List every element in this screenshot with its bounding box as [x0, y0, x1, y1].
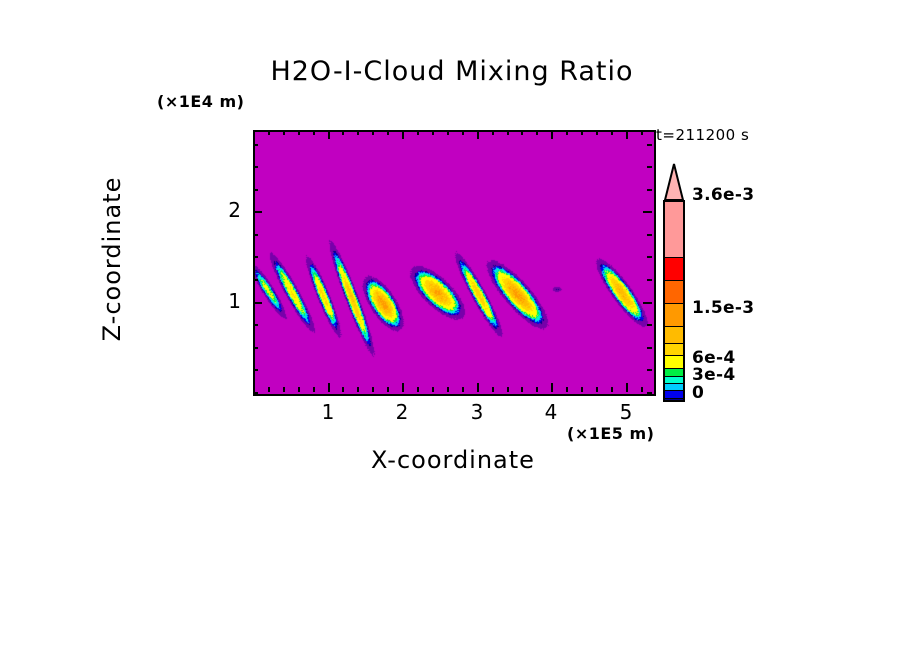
colorbar-band: [665, 383, 683, 390]
x-major-tick: [328, 383, 330, 392]
x-tick-label: 2: [387, 400, 417, 424]
contour-field: [255, 132, 654, 394]
colorbar-top-arrow-icon: [663, 163, 685, 201]
x-minor-tick: [536, 130, 538, 135]
x-minor-tick: [462, 130, 464, 135]
y-axis-units-label: (×1E4 m): [157, 92, 244, 111]
x-major-tick: [402, 383, 404, 392]
y-minor-tick: [253, 347, 258, 349]
figure-canvas: H2O-I-Cloud Mixing Ratio (×1E4 m) t=2112…: [0, 0, 904, 654]
x-minor-tick: [521, 130, 523, 135]
x-minor-tick: [596, 130, 598, 135]
time-annotation: t=211200 s: [656, 126, 749, 144]
x-minor-tick: [387, 387, 389, 392]
x-minor-tick: [641, 130, 643, 135]
colorbar-tick-label: 3.6e-3: [692, 185, 754, 205]
y-minor-tick: [253, 279, 258, 281]
x-minor-tick: [432, 130, 434, 135]
y-major-tick: [253, 211, 262, 213]
x-minor-tick: [313, 387, 315, 392]
x-minor-tick: [342, 130, 344, 135]
x-major-tick: [402, 130, 404, 139]
y-minor-tick: [647, 234, 652, 236]
x-major-tick: [477, 383, 479, 392]
x-minor-tick: [581, 387, 583, 392]
colorbar-bands: [663, 200, 685, 402]
y-tick-label: 1: [211, 289, 241, 313]
x-major-tick: [626, 130, 628, 139]
colorbar-band: [665, 368, 683, 375]
x-minor-tick: [566, 387, 568, 392]
colorbar-band: [665, 390, 683, 397]
colorbar-band: [665, 280, 683, 303]
colorbar-band: [665, 303, 683, 326]
x-tick-label: 4: [536, 400, 566, 424]
y-minor-tick: [253, 144, 258, 146]
x-tick-label: 1: [313, 400, 343, 424]
colorbar-band: [665, 355, 683, 368]
colorbar-tick-label: 0: [692, 383, 704, 403]
y-minor-tick: [253, 234, 258, 236]
y-minor-tick: [647, 392, 652, 394]
x-minor-tick: [447, 387, 449, 392]
y-minor-tick: [253, 324, 258, 326]
x-tick-label: 5: [611, 400, 641, 424]
y-tick-label: 2: [211, 198, 241, 222]
y-minor-tick: [647, 256, 652, 258]
y-major-tick: [253, 302, 262, 304]
colorbar: [663, 163, 685, 403]
x-major-tick: [328, 130, 330, 139]
x-major-tick: [551, 383, 553, 392]
x-major-tick: [551, 130, 553, 139]
x-axis-units-label: (×1E5 m): [567, 424, 654, 443]
x-axis-title: X-coordinate: [253, 446, 653, 474]
colorbar-band: [665, 343, 683, 356]
y-minor-tick: [253, 166, 258, 168]
x-minor-tick: [268, 130, 270, 135]
page-title: H2O-I-Cloud Mixing Ratio: [0, 56, 904, 87]
x-minor-tick: [357, 387, 359, 392]
x-minor-tick: [641, 387, 643, 392]
y-minor-tick: [647, 324, 652, 326]
colorbar-band: [665, 257, 683, 280]
colorbar-band: [665, 326, 683, 343]
x-minor-tick: [536, 387, 538, 392]
x-minor-tick: [253, 130, 255, 135]
y-minor-tick: [647, 144, 652, 146]
x-minor-tick: [596, 387, 598, 392]
x-major-tick: [626, 383, 628, 392]
colorbar-tick-label: 1.5e-3: [692, 298, 754, 318]
x-minor-tick: [566, 130, 568, 135]
x-minor-tick: [447, 130, 449, 135]
x-minor-tick: [521, 387, 523, 392]
x-minor-tick: [357, 130, 359, 135]
x-minor-tick: [298, 387, 300, 392]
plot-area: [253, 130, 656, 396]
x-minor-tick: [432, 387, 434, 392]
colorbar-band: [665, 398, 683, 402]
y-minor-tick: [647, 279, 652, 281]
y-axis-title: Z-coordinate: [98, 109, 126, 409]
x-minor-tick: [268, 387, 270, 392]
x-minor-tick: [611, 387, 613, 392]
x-minor-tick: [313, 130, 315, 135]
colorbar-band: [665, 202, 683, 257]
x-minor-tick: [492, 130, 494, 135]
x-minor-tick: [507, 130, 509, 135]
x-minor-tick: [417, 130, 419, 135]
x-minor-tick: [462, 387, 464, 392]
y-minor-tick: [647, 166, 652, 168]
y-minor-tick: [647, 369, 652, 371]
colorbar-tick-label: 3e-4: [692, 365, 735, 385]
x-tick-label: 3: [462, 400, 492, 424]
y-major-tick: [643, 302, 652, 304]
y-minor-tick: [647, 189, 652, 191]
y-minor-tick: [253, 369, 258, 371]
y-minor-tick: [253, 256, 258, 258]
x-minor-tick: [372, 387, 374, 392]
x-minor-tick: [342, 387, 344, 392]
y-minor-tick: [253, 392, 258, 394]
y-minor-tick: [253, 189, 258, 191]
x-minor-tick: [611, 130, 613, 135]
x-minor-tick: [507, 387, 509, 392]
x-minor-tick: [372, 130, 374, 135]
x-minor-tick: [298, 130, 300, 135]
y-major-tick: [643, 211, 652, 213]
x-major-tick: [477, 130, 479, 139]
x-minor-tick: [283, 130, 285, 135]
x-minor-tick: [387, 130, 389, 135]
x-minor-tick: [417, 387, 419, 392]
colorbar-band: [665, 376, 683, 383]
x-minor-tick: [492, 387, 494, 392]
y-minor-tick: [647, 347, 652, 349]
x-minor-tick: [581, 130, 583, 135]
x-minor-tick: [283, 387, 285, 392]
